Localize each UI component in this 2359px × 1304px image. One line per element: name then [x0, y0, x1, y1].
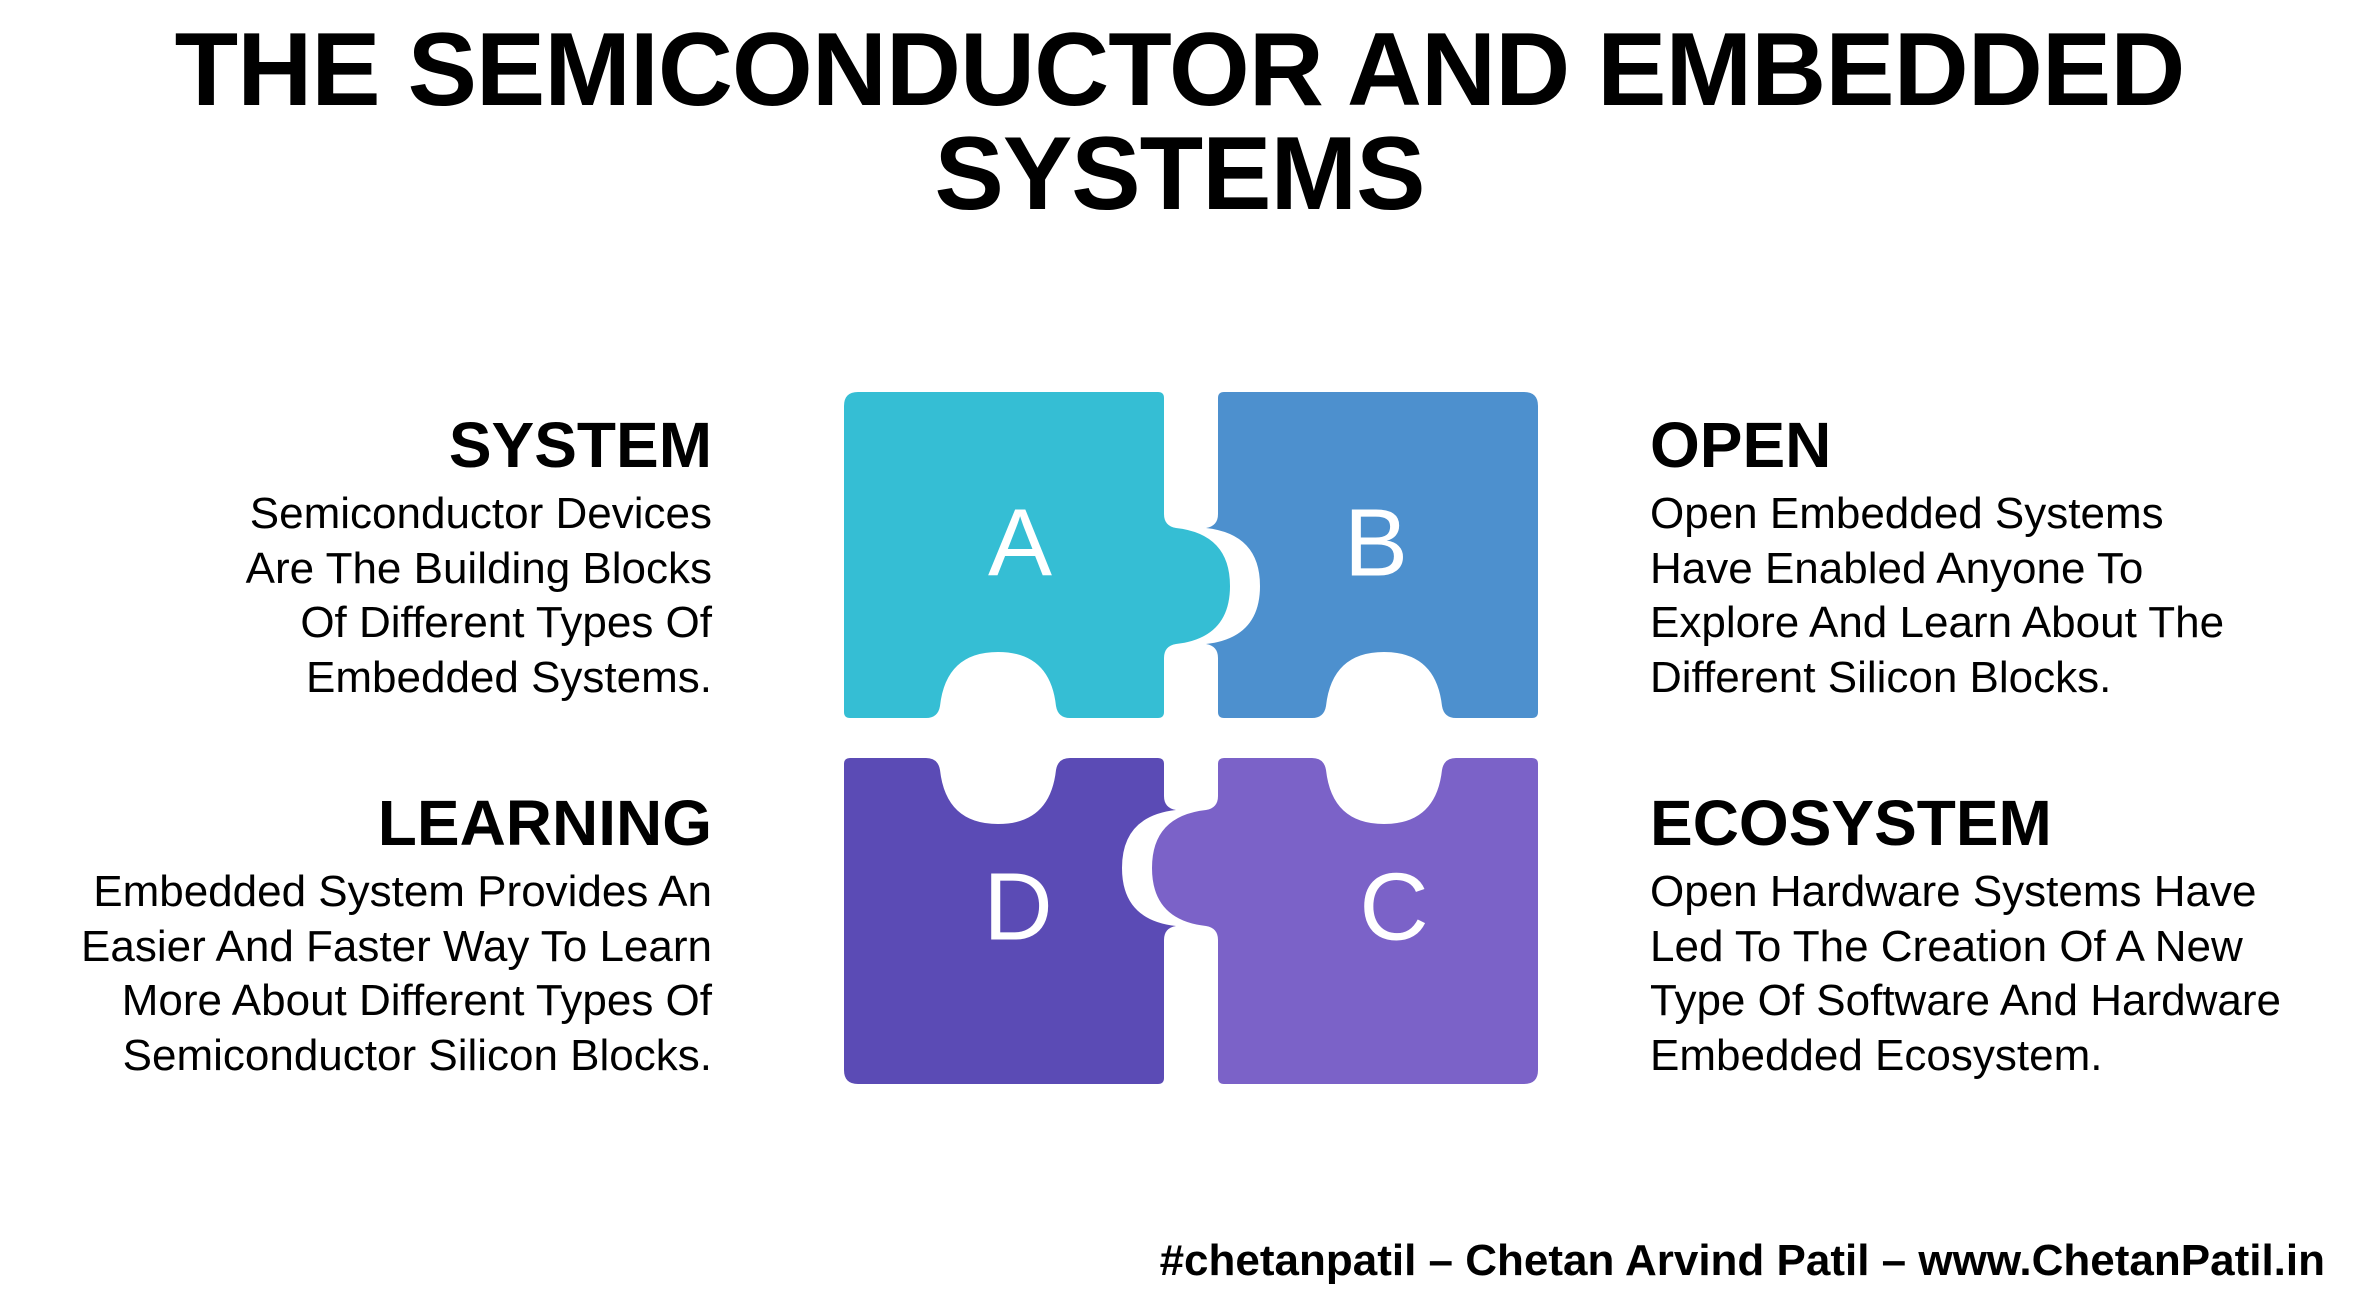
info-block-system-heading: SYSTEM [12, 412, 712, 479]
footer-credit: #chetanpatil – Chetan Arvind Patil – www… [1160, 1236, 2325, 1286]
puzzle-piece-b-label: B [1344, 489, 1408, 596]
puzzle-graphic: A B C D [838, 386, 1544, 1090]
info-block-open-heading: OPEN [1650, 412, 2350, 479]
info-block-system-body: Semiconductor Devices Are The Building B… [12, 487, 712, 705]
info-block-ecosystem: ECOSYSTEM Open Hardware Systems Have Led… [1650, 790, 2350, 1083]
info-block-learning-heading: LEARNING [12, 790, 712, 857]
info-block-open-body: Open Embedded Systems Have Enabled Anyon… [1650, 487, 2350, 705]
puzzle-piece-c-label: C [1359, 853, 1428, 960]
puzzle-piece-d-label: D [983, 853, 1052, 960]
info-block-learning-body: Embedded System Provides An Easier And F… [12, 865, 712, 1083]
page-title: THE SEMICONDUCTOR AND EMBEDDED SYSTEMS [0, 18, 2359, 226]
info-block-ecosystem-heading: ECOSYSTEM [1650, 790, 2350, 857]
puzzle-piece-c[interactable] [1152, 758, 1538, 1084]
info-block-ecosystem-body: Open Hardware Systems Have Led To The Cr… [1650, 865, 2350, 1083]
puzzle-piece-a-label: A [988, 489, 1052, 596]
info-block-system: SYSTEM Semiconductor Devices Are The Bui… [12, 412, 712, 705]
info-block-learning: LEARNING Embedded System Provides An Eas… [12, 790, 712, 1083]
info-block-open: OPEN Open Embedded Systems Have Enabled … [1650, 412, 2350, 705]
